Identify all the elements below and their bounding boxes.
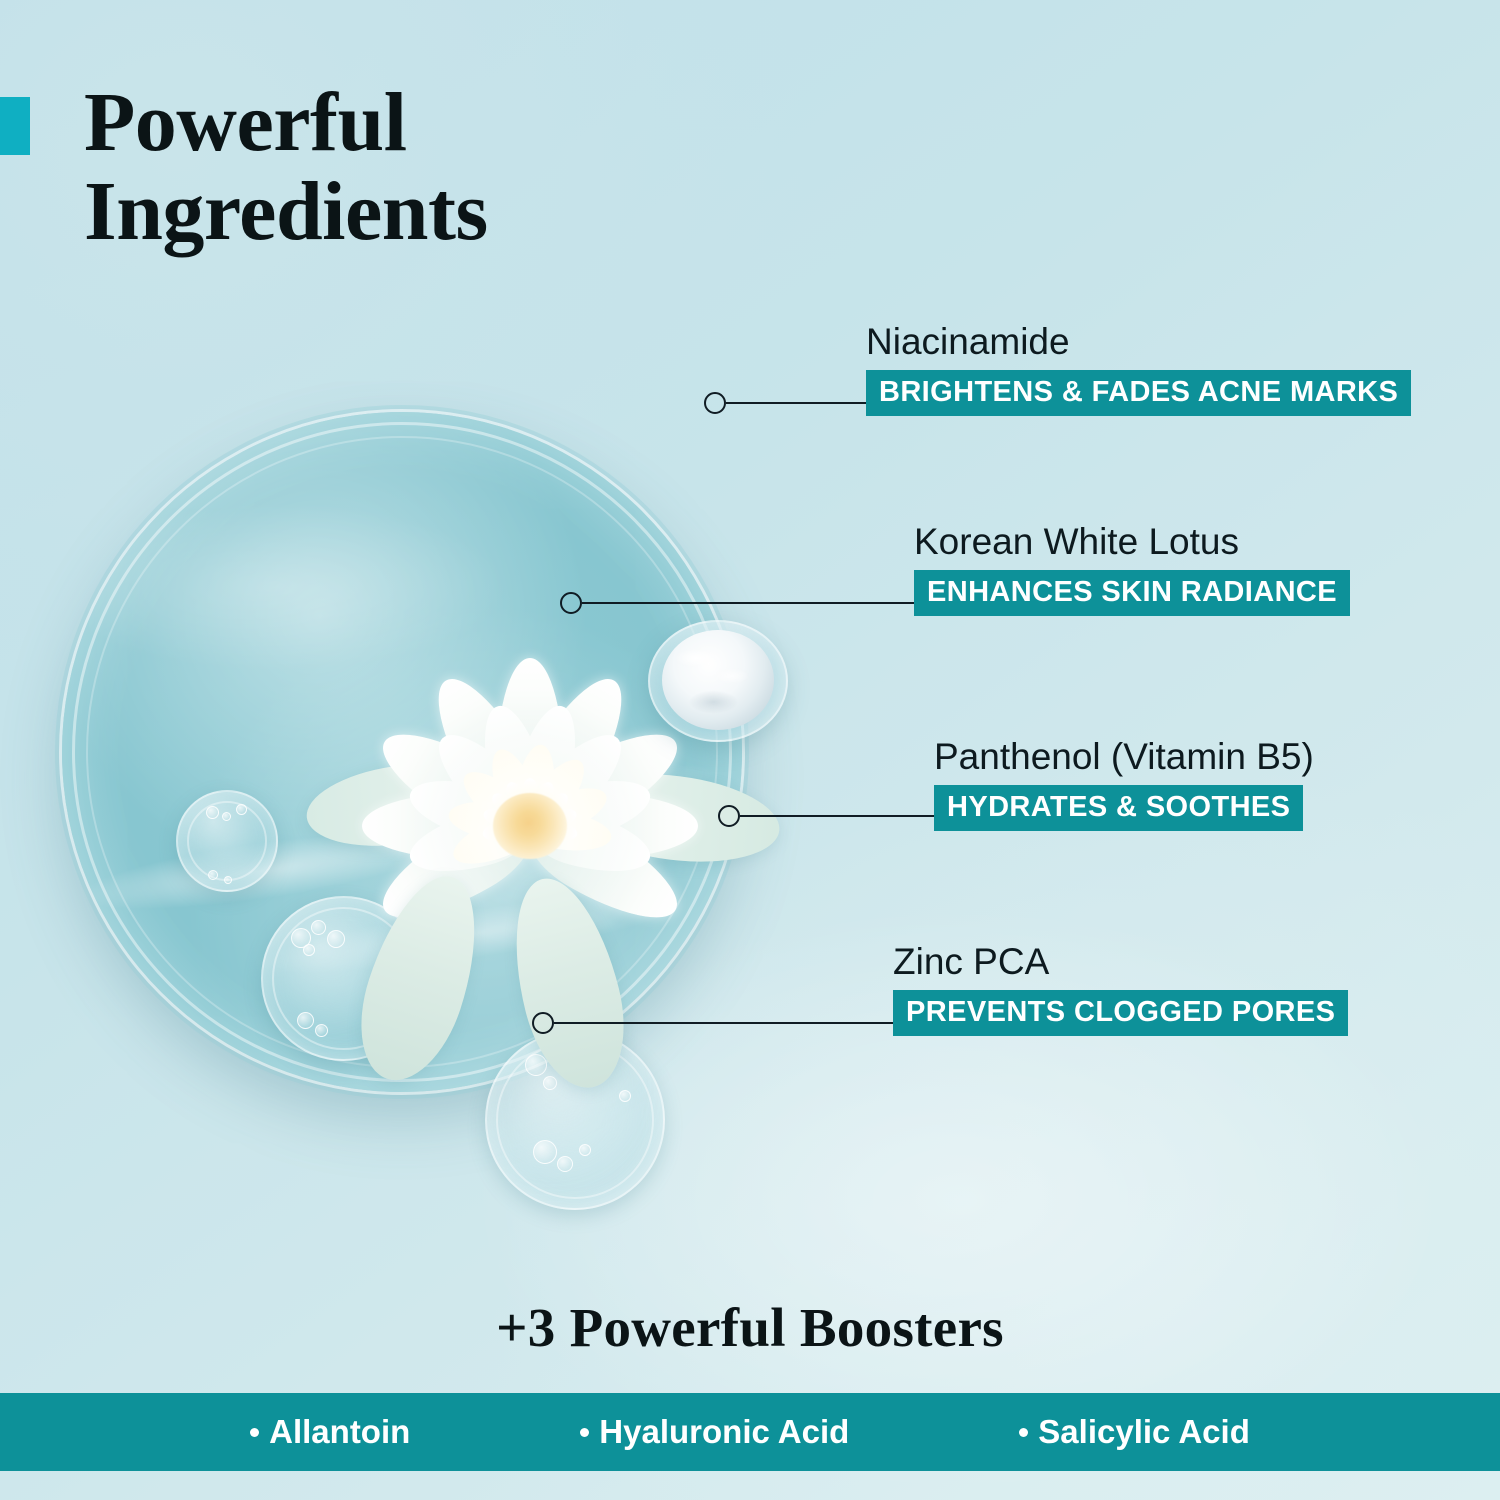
product-scene: [0, 300, 900, 1200]
niacinamide-powder: [662, 630, 774, 730]
bubble-icon: [236, 804, 247, 815]
booster-item-hyaluronic-acid: Hyaluronic Acid: [580, 1413, 849, 1451]
callout-niacinamide: Niacinamide BRIGHTENS & FADES ACNE MARKS: [866, 322, 1411, 416]
booster-label-hyaluronic-acid: Hyaluronic Acid: [599, 1413, 849, 1451]
callout-marker-zinc-pca[interactable]: [532, 1012, 554, 1034]
bubble-icon: [224, 876, 232, 884]
callout-benefit-panthenol: HYDRATES & SOOTHES: [934, 785, 1303, 831]
booster-label-allantoin: Allantoin: [269, 1413, 410, 1451]
booster-label-salicylic-acid: Salicylic Acid: [1038, 1413, 1250, 1451]
bubble-icon: [557, 1156, 573, 1172]
callout-leader-korean-white-lotus: [582, 602, 926, 604]
callout-marker-niacinamide[interactable]: [704, 392, 726, 414]
callout-panthenol: Panthenol (Vitamin B5) HYDRATES & SOOTHE…: [934, 737, 1314, 831]
callout-leader-zinc-pca: [554, 1022, 894, 1024]
callout-name-korean-white-lotus: Korean White Lotus: [914, 522, 1350, 563]
callout-benefit-korean-white-lotus: ENHANCES SKIN RADIANCE: [914, 570, 1350, 616]
callout-leader-niacinamide: [726, 402, 868, 404]
callout-marker-panthenol[interactable]: [718, 805, 740, 827]
callout-zinc-pca: Zinc PCA PREVENTS CLOGGED PORES: [893, 942, 1348, 1036]
powder-texture: [662, 630, 774, 730]
callout-korean-white-lotus: Korean White Lotus ENHANCES SKIN RADIANC…: [914, 522, 1350, 616]
bullet-icon: [250, 1428, 259, 1437]
boosters-bar: Allantoin Hyaluronic Acid Salicylic Acid: [0, 1393, 1500, 1471]
callout-name-niacinamide: Niacinamide: [866, 322, 1411, 363]
page-title-line-1: Powerful: [84, 78, 784, 167]
bubble-icon: [525, 1054, 547, 1076]
callout-name-panthenol: Panthenol (Vitamin B5): [934, 737, 1314, 778]
bubble-icon: [297, 1012, 314, 1029]
accent-bar: [0, 97, 30, 155]
bubble-icon: [222, 812, 231, 821]
bubble-icon: [303, 944, 315, 956]
boosters-title: +3 Powerful Boosters: [0, 1296, 1500, 1359]
bullet-icon: [1019, 1428, 1028, 1437]
callout-name-zinc-pca: Zinc PCA: [893, 942, 1348, 983]
booster-item-allantoin: Allantoin: [250, 1413, 410, 1451]
callout-leader-panthenol: [740, 815, 936, 817]
page-title: Powerful Ingredients: [84, 78, 784, 256]
bubble-icon: [206, 806, 219, 819]
booster-item-salicylic-acid: Salicylic Acid: [1019, 1413, 1250, 1451]
callout-benefit-niacinamide: BRIGHTENS & FADES ACNE MARKS: [866, 370, 1411, 416]
bubble-icon: [208, 870, 218, 880]
callout-marker-korean-white-lotus[interactable]: [560, 592, 582, 614]
petri-dish: [62, 412, 742, 1092]
callout-benefit-zinc-pca: PREVENTS CLOGGED PORES: [893, 990, 1348, 1036]
bubble-icon: [543, 1076, 557, 1090]
bubble-icon: [579, 1144, 591, 1156]
bubble-icon: [619, 1090, 631, 1102]
mini-dish-a: [176, 790, 278, 892]
powder-dish: [648, 620, 788, 742]
bubble-icon: [533, 1140, 557, 1164]
page-title-line-2: Ingredients: [84, 167, 784, 256]
bullet-icon: [580, 1428, 589, 1437]
